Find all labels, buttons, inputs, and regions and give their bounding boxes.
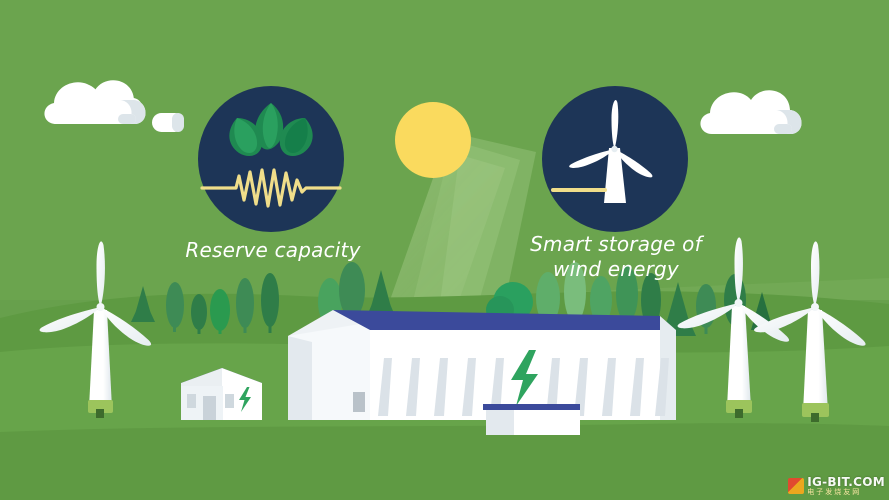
- badge-reserve-capacity[interactable]: [198, 86, 344, 232]
- landscape-layer: [0, 0, 889, 500]
- small-cloud-icon: [152, 113, 184, 132]
- watermark-text: IG-BIT.COM 电子发烧友网: [807, 476, 885, 496]
- illustration-canvas: Reserve capacity Smart storage of wind e…: [0, 0, 889, 500]
- battery-storage-building: [288, 310, 676, 435]
- ig-bit-logo-icon: [788, 478, 804, 494]
- badge-smart-storage[interactable]: [542, 86, 688, 232]
- watermark-title: IG-BIT.COM: [807, 476, 885, 488]
- foreground-ground: [0, 423, 889, 500]
- transformer-box: [483, 404, 580, 435]
- sun-icon: [395, 102, 471, 178]
- watermark: IG-BIT.COM 电子发烧友网: [788, 476, 885, 496]
- watermark-subtitle: 电子发烧友网: [807, 489, 885, 496]
